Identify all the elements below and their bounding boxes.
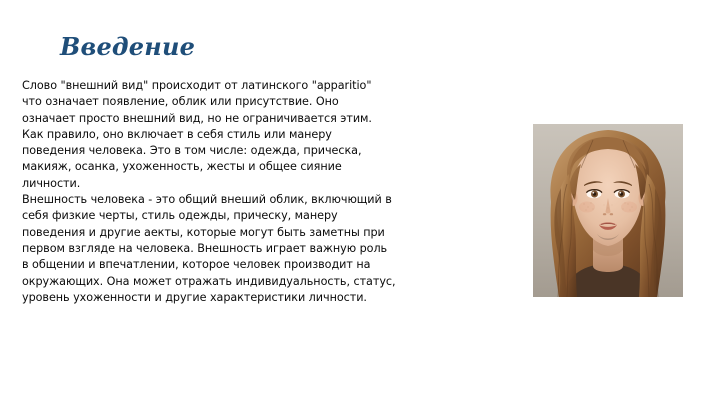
page-title: Введение [60, 32, 195, 62]
body-text-column: Слово "внешний вид" происходит от латинс… [22, 78, 418, 306]
slide-canvas: Введение Слово "внешний вид" происходит … [0, 0, 720, 405]
body-paragraph-1: Слово "внешний вид" происходит от латинс… [22, 78, 418, 192]
portrait-image [533, 124, 683, 297]
body-paragraph-2: Внешность человека - это общий внеший об… [22, 192, 418, 306]
portrait-illustration [533, 124, 683, 297]
